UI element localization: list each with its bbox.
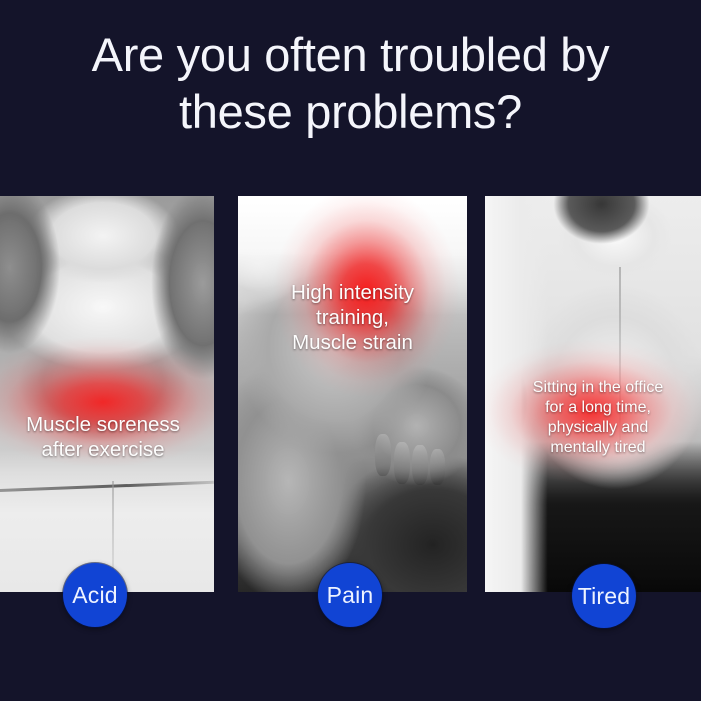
page-title: Are you often troubled by these problems… <box>0 26 701 140</box>
badge-pain[interactable]: Pain <box>318 563 382 627</box>
finger-shape <box>375 434 391 476</box>
badge-acid[interactable]: Acid <box>63 563 127 627</box>
finger-shape <box>412 445 428 485</box>
panel-caption-tired: Sitting in the office for a long time, p… <box>493 378 701 458</box>
badge-tired[interactable]: Tired <box>572 564 636 628</box>
promo-poster: Are you often troubled by these problems… <box>0 0 701 701</box>
problem-panel-acid[interactable]: Muscle soreness after exercise <box>0 196 214 592</box>
panel-caption-acid: Muscle soreness after exercise <box>0 412 214 462</box>
waistband-line <box>0 481 214 493</box>
problem-panels: Muscle soreness after exercise High inte… <box>0 196 701 592</box>
panel-caption-pain: High intensity training, Muscle strain <box>238 280 467 355</box>
man-shoulder-pain-photo <box>238 196 467 592</box>
finger-shape <box>430 449 445 485</box>
problem-panel-pain[interactable]: High intensity training, Muscle strain <box>238 196 467 592</box>
problem-panel-tired[interactable]: Sitting in the office for a long time, p… <box>485 196 701 592</box>
woman-back-pain-photo <box>0 196 214 592</box>
finger-shape <box>394 442 410 484</box>
